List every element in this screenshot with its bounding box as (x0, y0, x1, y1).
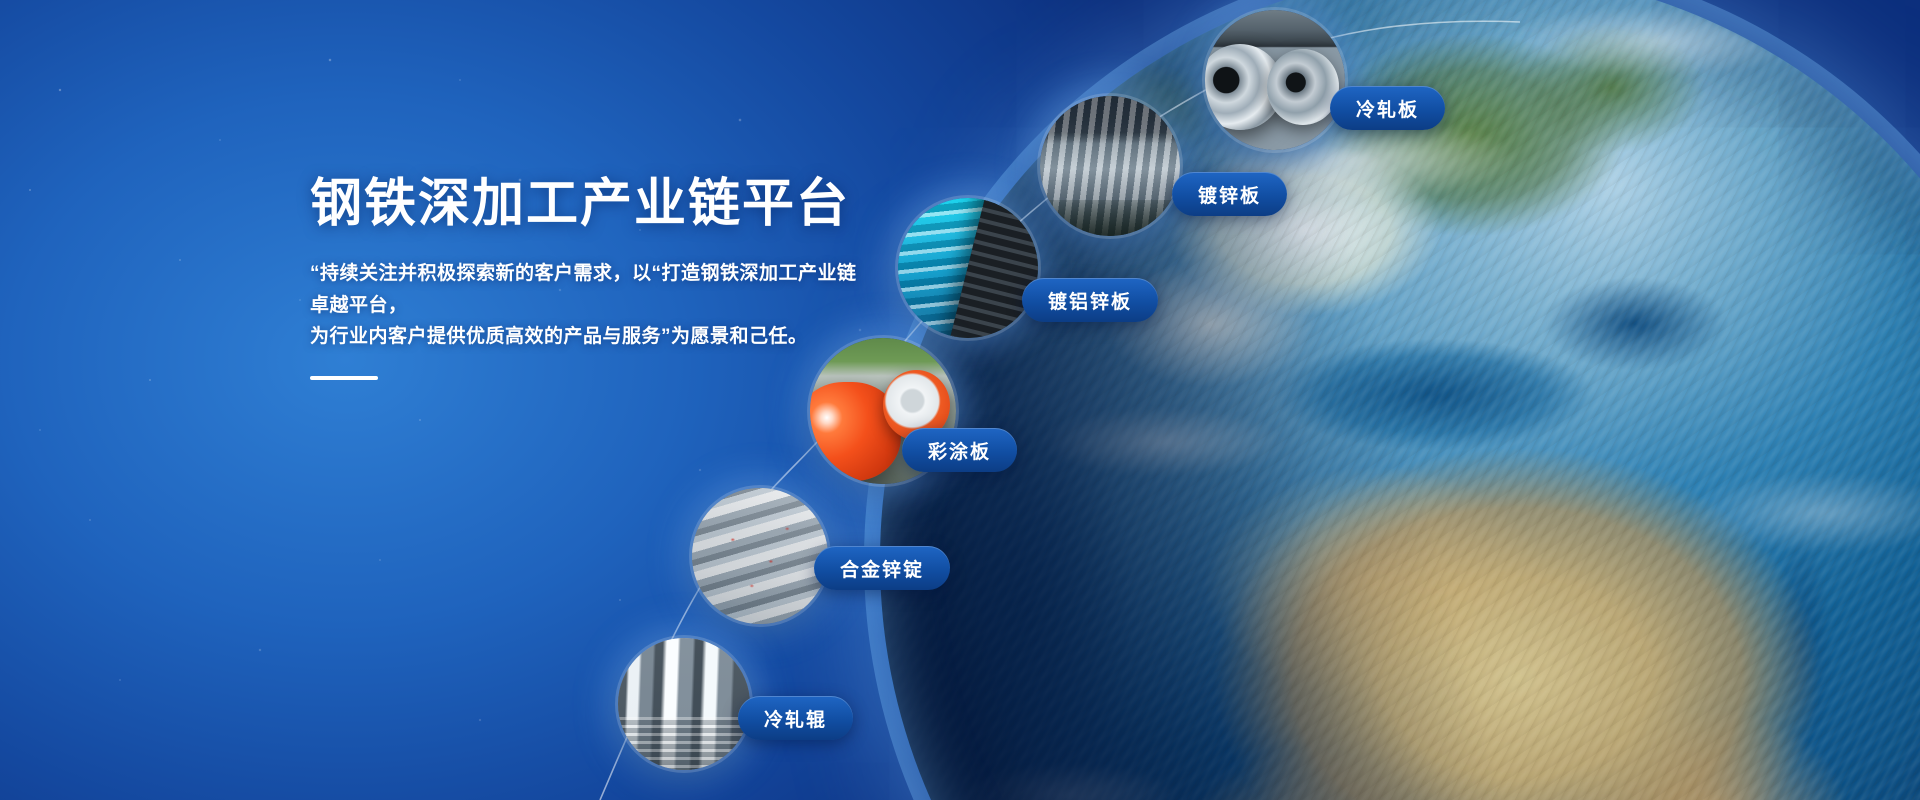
product-thumb-galvanized-plate[interactable] (1040, 96, 1180, 236)
product-label-galvanized-plate[interactable]: 镀锌板 (1172, 172, 1287, 216)
product-label-alu-zinc-plate[interactable]: 镀铝锌板 (1022, 278, 1158, 322)
zinc-ingots-photo (692, 488, 828, 624)
product-label-color-coated-plate[interactable]: 彩涂板 (902, 428, 1017, 472)
title-underline-rule (310, 376, 378, 380)
cyan-coated-coil-photo (898, 198, 1038, 338)
starfield-decoration-secondary (0, 0, 1920, 800)
hero-banner: 钢铁深加工产业链平台 “持续关注并积极探索新的客户需求，以“打造钢铁深加工产业链… (0, 0, 1920, 800)
product-thumb-cold-rolled-plate[interactable] (1205, 10, 1345, 150)
hero-subtitle-line-2: 为行业内客户提供优质高效的产品与服务”为愿景和己任。 (310, 321, 870, 352)
starfield-decoration (0, 0, 1920, 800)
page-title: 钢铁深加工产业链平台 (310, 176, 930, 232)
hero-subtitle: “持续关注并积极探索新的客户需求，以“打造钢铁深加工产业链卓越平台， 为行业内客… (310, 258, 870, 352)
product-chain-connector (0, 0, 1920, 800)
product-label-cold-roll-roller[interactable]: 冷轧辊 (738, 696, 853, 740)
hero-subtitle-line-1: “持续关注并积极探索新的客户需求，以“打造钢铁深加工产业链卓越平台， (310, 258, 870, 321)
polished-rollers-photo (618, 638, 750, 770)
steel-coils-photo (1205, 10, 1345, 150)
product-thumb-alloy-zinc-ingot[interactable] (692, 488, 828, 624)
product-label-cold-rolled-plate[interactable]: 冷轧板 (1330, 86, 1445, 130)
product-thumb-alu-zinc-plate[interactable] (898, 198, 1038, 338)
product-label-alloy-zinc-ingot[interactable]: 合金锌锭 (814, 546, 950, 590)
product-thumb-cold-roll-roller[interactable] (618, 638, 750, 770)
coil-warehouse-photo (1040, 96, 1180, 236)
